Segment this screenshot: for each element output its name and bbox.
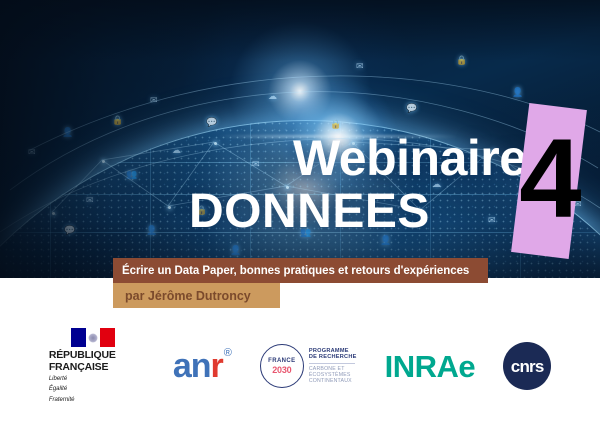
episode-number-badge: 4 bbox=[511, 103, 587, 259]
title-line-2: DONNEES bbox=[189, 184, 430, 239]
flag-blue-band bbox=[71, 328, 86, 347]
logo-republique-francaise: RÉPUBLIQUE FRANÇAISE Liberté Égalité Fra… bbox=[49, 328, 145, 404]
subtitle-text: Écrire un Data Paper, bonnes pratiques e… bbox=[113, 265, 469, 277]
anr-text-r: r bbox=[211, 349, 223, 383]
author-bar: par Jérôme Dutroncy bbox=[113, 283, 280, 308]
title-line-1: Webinaire bbox=[293, 129, 527, 187]
registered-trademark-icon: ® bbox=[224, 347, 232, 359]
flag-red-band bbox=[100, 328, 115, 347]
programme-line1: PROGRAMME bbox=[309, 348, 357, 355]
partner-logo-strip: RÉPUBLIQUE FRANÇAISE Liberté Égalité Fra… bbox=[0, 308, 600, 424]
france-2030-caption: PROGRAMME DE RECHERCHE CARBONE ET ÉCOSYS… bbox=[309, 348, 357, 385]
webinar-poster: ✉ 👤 ✉ 🔒 👥 💬 👤 ☁ ✉ 🔒 💬 👤 ✉ ☁ 👥 🔒 ✉ 👤 💬 ☁ … bbox=[0, 0, 600, 424]
french-flag-icon bbox=[71, 328, 115, 347]
episode-number: 4 bbox=[519, 123, 581, 235]
hero-banner: ✉ 👤 ✉ 🔒 👥 💬 👤 ☁ ✉ 🔒 💬 👤 ✉ ☁ 👥 🔒 ✉ 👤 💬 ☁ … bbox=[0, 0, 600, 278]
inrae-text: INRA bbox=[385, 349, 459, 384]
motto-fraternite: Fraternité bbox=[49, 397, 75, 404]
anr-text-an: an bbox=[173, 349, 211, 383]
author-text: par Jérôme Dutroncy bbox=[113, 289, 251, 303]
logo-anr: an r ® bbox=[173, 349, 232, 383]
programme-line2: DE RECHERCHE bbox=[309, 354, 357, 361]
motto-liberte: Liberté bbox=[49, 376, 67, 383]
programme-sub3: CONTINENTAUX bbox=[309, 378, 357, 384]
france-2030-circle-icon: FRANCE 2030 bbox=[260, 344, 304, 388]
france-2030-year: 2030 bbox=[272, 365, 291, 375]
logo-inrae: INRAe bbox=[385, 351, 476, 382]
republique-label-line2: FRANÇAISE bbox=[49, 362, 108, 374]
france-2030-label: FRANCE bbox=[268, 358, 295, 365]
republique-label-line1: RÉPUBLIQUE bbox=[49, 350, 116, 362]
inrae-suffix: e bbox=[458, 349, 475, 384]
motto-egalite: Égalité bbox=[49, 386, 67, 393]
logo-france-2030: FRANCE 2030 PROGRAMME DE RECHERCHE CARBO… bbox=[260, 344, 357, 388]
logo-cnrs: cnrs bbox=[503, 342, 551, 390]
caption-divider bbox=[309, 363, 355, 364]
flag-white-band-marianne bbox=[86, 328, 101, 347]
subtitle-bar: Écrire un Data Paper, bonnes pratiques e… bbox=[113, 258, 488, 283]
cnrs-text: cnrs bbox=[511, 358, 544, 375]
